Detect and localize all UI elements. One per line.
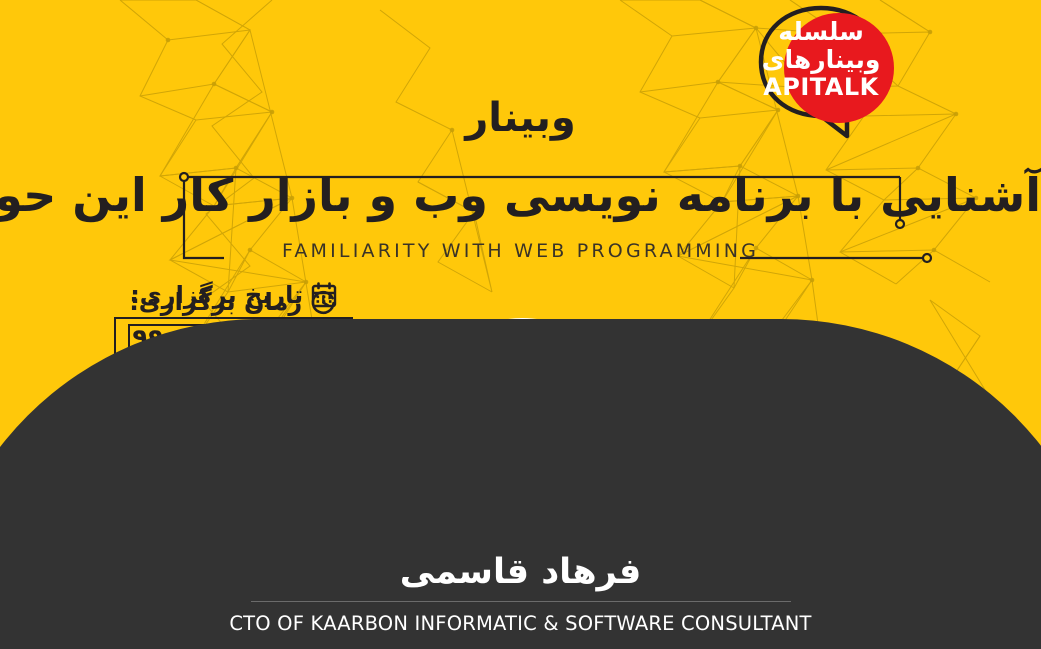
badge-line-1: سلسله bbox=[755, 18, 887, 46]
speaker-role: CTO OF KAARBON INFORMATIC & SOFTWARE CON… bbox=[0, 612, 1041, 635]
event-time-label: زمان برگزاری: bbox=[129, 288, 302, 316]
title-persian: آشنایی با برنامه نویسی وب و بازار کار ای… bbox=[0, 168, 1041, 222]
speaker-footer-content: فرهاد قاسمی CTO OF KAARBON INFORMATIC & … bbox=[0, 552, 1041, 649]
title-block: آشنایی با برنامه نویسی وب و بازار کار ای… bbox=[0, 168, 1041, 273]
speaker-footer: فرهاد قاسمی CTO OF KAARBON INFORMATIC & … bbox=[0, 319, 1041, 649]
kicker-webinar: وبینار bbox=[0, 95, 1041, 141]
event-time-label-row: زمان برگزاری: bbox=[128, 288, 338, 316]
badge-line-2: وبینارهای bbox=[755, 46, 887, 74]
badge-text-group: سلسله وبینارهای APITALK bbox=[755, 18, 887, 101]
clock-icon bbox=[310, 289, 337, 316]
speaker-name: فرهاد قاسمی bbox=[0, 552, 1041, 592]
webinar-poster: سلسله وبینارهای APITALK وبینار آشنایی با… bbox=[0, 0, 1041, 649]
title-english: FAMILIARITY WITH WEB PROGRAMMING bbox=[0, 240, 1041, 262]
footer-divider bbox=[251, 601, 791, 602]
